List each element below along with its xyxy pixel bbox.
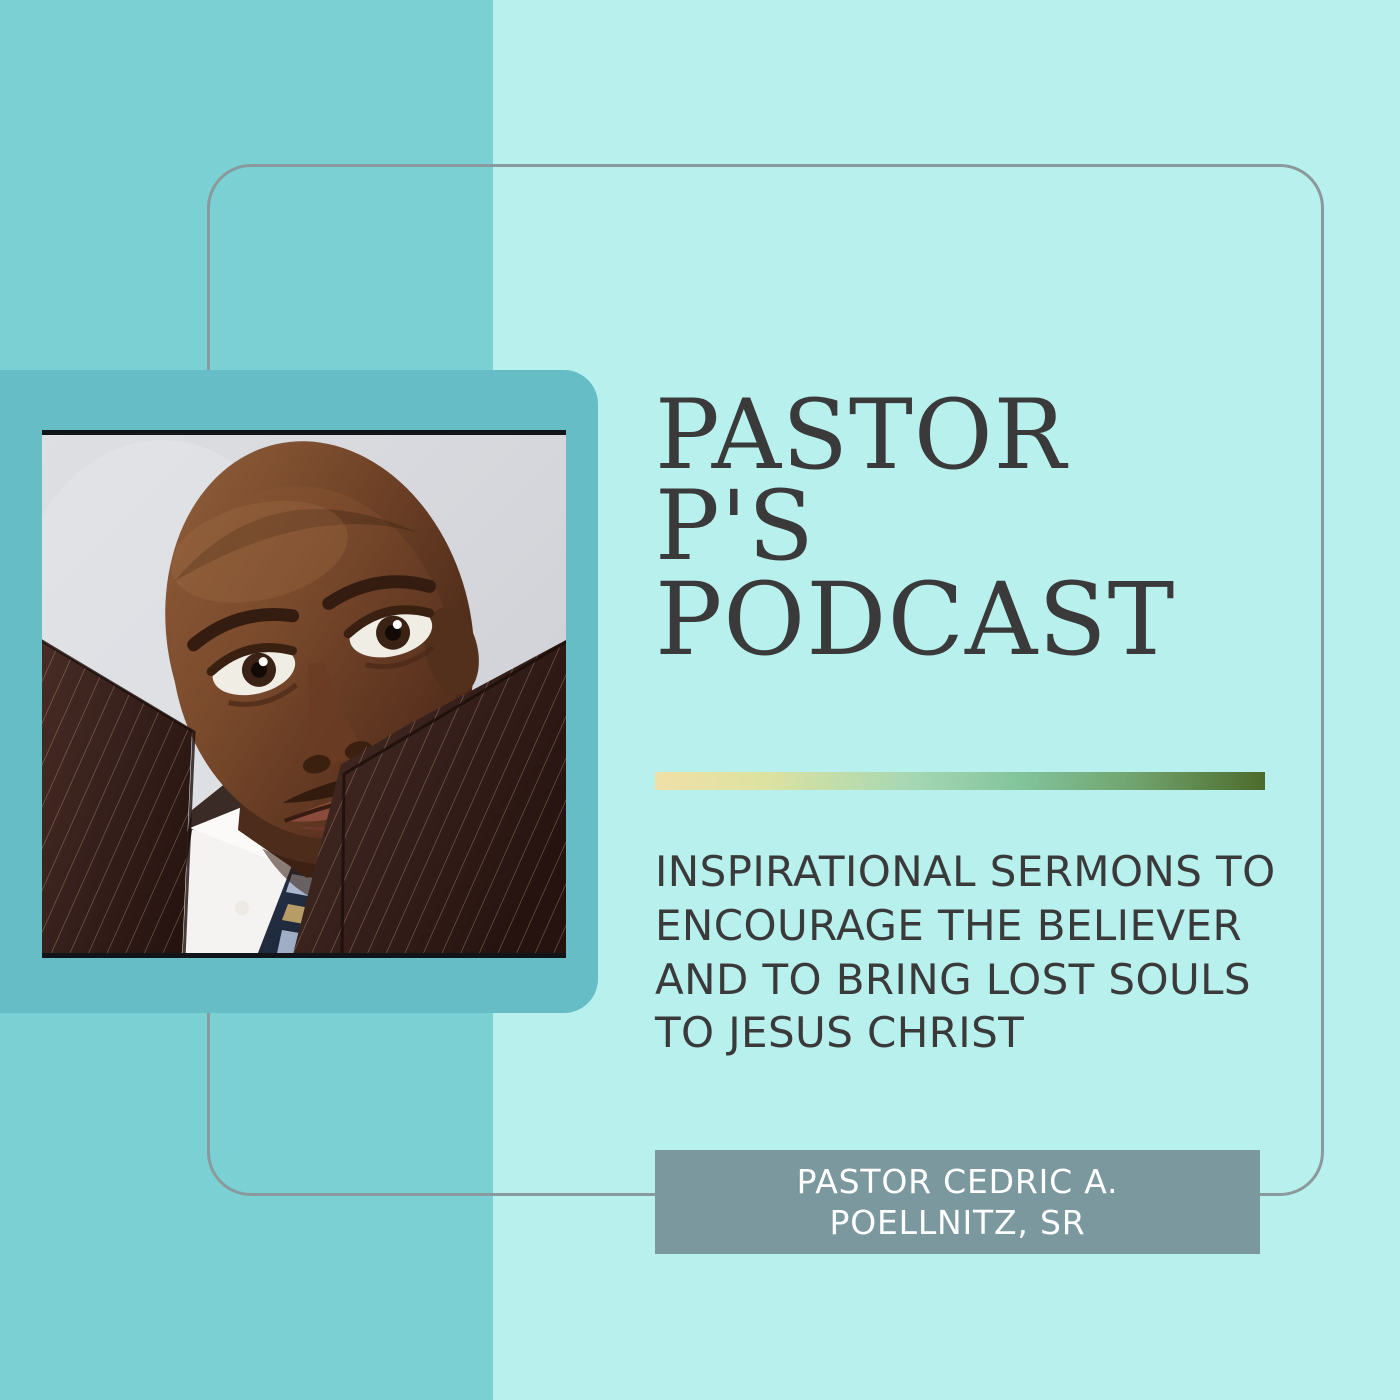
gradient-divider-bar	[655, 772, 1265, 790]
podcast-cover-art: PASTOR P'S PODCAST INSPIRATIONAL SERMONS…	[0, 0, 1400, 1400]
title-line-2: P'S	[655, 481, 1275, 572]
podcast-title: PASTOR P'S PODCAST	[655, 390, 1275, 667]
host-name-bar: PASTOR CEDRIC A. POELLNITZ, SR	[655, 1150, 1260, 1254]
subtitle-line-2: ENCOURAGE THE BELIEVER	[655, 899, 1255, 953]
portrait-photo	[42, 430, 566, 958]
podcast-subtitle: INSPIRATIONAL SERMONS TO ENCOURAGE THE B…	[655, 845, 1255, 1060]
host-name-line-1: PASTOR CEDRIC A.	[797, 1161, 1119, 1202]
subtitle-line-4: TO JESUS CHRIST	[655, 1006, 1255, 1060]
host-name-line-2: POELLNITZ, SR	[830, 1202, 1086, 1243]
portrait-photo-frame	[0, 370, 598, 1013]
title-line-3: PODCAST	[655, 572, 1275, 667]
subtitle-line-3: AND TO BRING LOST SOULS	[655, 953, 1255, 1007]
subtitle-line-1: INSPIRATIONAL SERMONS TO	[655, 845, 1255, 899]
portrait-illustration	[42, 435, 566, 953]
title-block: PASTOR P'S PODCAST	[655, 390, 1275, 667]
title-line-1: PASTOR	[655, 390, 1275, 481]
